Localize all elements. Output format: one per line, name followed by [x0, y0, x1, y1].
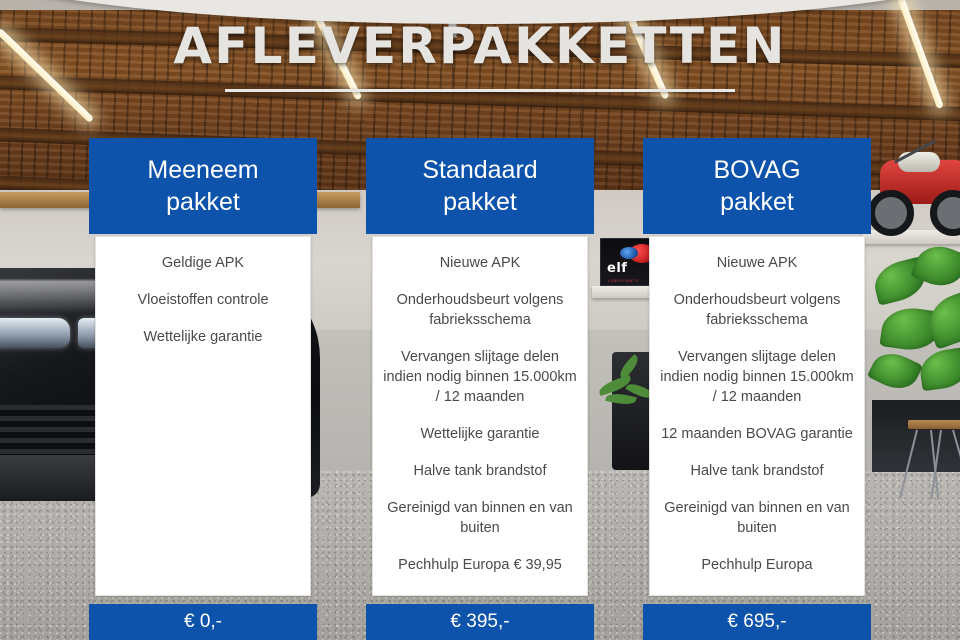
- package-feature: Gereinigd van binnen en van buiten: [383, 498, 577, 538]
- package-feature: Vervangen slijtage delen indien nodig bi…: [660, 347, 854, 407]
- package-feature-list: Nieuwe APK Onderhoudsbeurt volgens fabri…: [649, 236, 865, 596]
- package-card-header: Meeneem pakket: [89, 138, 317, 234]
- package-title-line2: pakket: [720, 188, 794, 216]
- package-title-line2: pakket: [443, 188, 517, 216]
- package-title-line2: pakket: [166, 188, 240, 216]
- package-feature: Wettelijke garantie: [106, 327, 300, 347]
- package-feature: Pechhulp Europa € 39,95: [383, 555, 577, 575]
- package-feature: 12 maanden BOVAG garantie: [660, 424, 854, 444]
- package-feature: Halve tank brandstof: [660, 461, 854, 481]
- package-price[interactable]: € 395,-: [366, 604, 594, 640]
- title-divider: [225, 89, 735, 92]
- package-card-header: BOVAG pakket: [643, 138, 871, 234]
- package-feature: Pechhulp Europa: [660, 555, 854, 575]
- package-feature: Geldige APK: [106, 253, 300, 273]
- package-feature: Onderhoudsbeurt volgens fabrieksschema: [383, 290, 577, 330]
- package-feature: Onderhoudsbeurt volgens fabrieksschema: [660, 290, 854, 330]
- package-feature: Wettelijke garantie: [383, 424, 577, 444]
- package-card-header: Standaard pakket: [366, 138, 594, 234]
- package-card-bovag[interactable]: BOVAG pakket Nieuwe APK Onderhoudsbeurt …: [643, 138, 871, 640]
- package-price[interactable]: € 0,-: [89, 604, 317, 640]
- package-feature: Nieuwe APK: [660, 253, 854, 273]
- poster-root: elf LUBRIFIANTS: [0, 0, 960, 640]
- package-feature: Gereinigd van binnen en van buiten: [660, 498, 854, 538]
- package-feature: Vervangen slijtage delen indien nodig bi…: [383, 347, 577, 407]
- package-feature: Vloeistoffen controle: [106, 290, 300, 310]
- package-cards: Meeneem pakket Geldige APK Vloeistoffen …: [0, 138, 960, 640]
- package-card-meeneem[interactable]: Meeneem pakket Geldige APK Vloeistoffen …: [89, 138, 317, 640]
- package-feature: Nieuwe APK: [383, 253, 577, 273]
- package-feature: Halve tank brandstof: [383, 461, 577, 481]
- package-title-line1: Meeneem: [147, 156, 258, 184]
- package-price[interactable]: € 695,-: [643, 604, 871, 640]
- package-title-line1: Standaard: [422, 156, 537, 184]
- poster-content: AFLEVERPAKKETTEN Meeneem pakket Geldige …: [0, 0, 960, 640]
- page-title: AFLEVERPAKKETTEN: [0, 18, 960, 76]
- package-feature-list: Geldige APK Vloeistoffen controle Wettel…: [95, 236, 311, 596]
- package-feature-list: Nieuwe APK Onderhoudsbeurt volgens fabri…: [372, 236, 588, 596]
- package-card-standaard[interactable]: Standaard pakket Nieuwe APK Onderhoudsbe…: [366, 138, 594, 640]
- package-title-line1: BOVAG: [713, 156, 800, 184]
